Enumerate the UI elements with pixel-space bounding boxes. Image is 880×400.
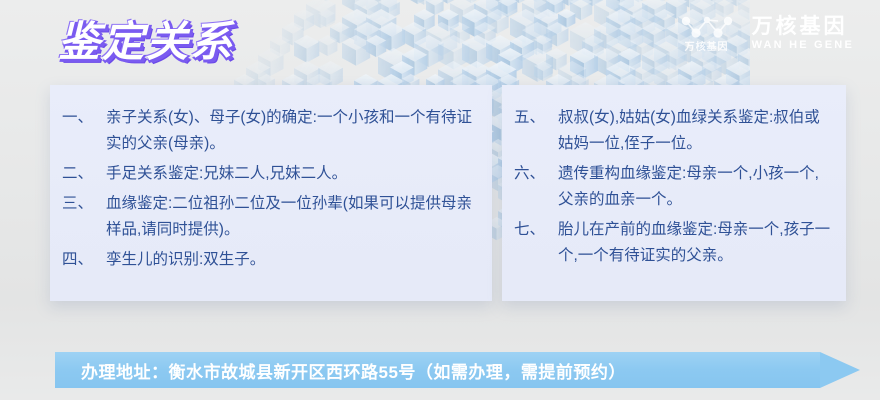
list-item-text: 血缘鉴定:二位祖孙二位及一位孙辈(如果可以提供母亲样品,请同时提供)。 [106, 191, 478, 243]
list-item: 三、 血缘鉴定:二位祖孙二位及一位孙辈(如果可以提供母亲样品,请同时提供)。 [62, 191, 478, 243]
list-item-number: 一、 [62, 105, 106, 131]
content-panels: 一、 亲子关系(女)、母子(女)的确定:一个小孩和一个有待证实的父亲(母亲)。 … [50, 85, 846, 301]
list-item-text: 叔叔(女),姑姑(女)血绿关系鉴定:叔伯或姑妈一位,侄子一位。 [558, 105, 832, 157]
list-item-number: 三、 [62, 191, 106, 217]
address-banner-text: 办理地址：衡水市故城县新开区西环路55号（如需办理，需提前预约） [55, 358, 626, 383]
list-item: 四、 孪生儿的识别:双生子。 [62, 247, 478, 273]
list-item-number: 七、 [514, 217, 558, 243]
list-item-text: 孪生儿的识别:双生子。 [106, 247, 478, 273]
list-item: 六、 遗传重构血缘鉴定:母亲一个,小孩一个,父亲的血亲一个。 [514, 161, 832, 213]
brand-mark: 万核基因 [678, 14, 736, 53]
banner-arrow-tip [820, 352, 860, 388]
poster-canvas: 鉴定关系 [0, 0, 880, 400]
list-item-text: 亲子关系(女)、母子(女)的确定:一个小孩和一个有待证实的父亲(母亲)。 [106, 105, 478, 157]
list-item-number: 二、 [62, 161, 106, 187]
page-title: 鉴定关系 [58, 8, 234, 69]
address-banner: 办理地址：衡水市故城县新开区西环路55号（如需办理，需提前预约） [55, 352, 860, 388]
panel-left: 一、 亲子关系(女)、母子(女)的确定:一个小孩和一个有待证实的父亲(母亲)。 … [50, 85, 492, 301]
brand-wordmark: 万核基因 WAN HE GENE [752, 16, 854, 51]
brand-name-cn: 万核基因 [752, 16, 854, 37]
list-item-text: 胎儿在产前的血缘鉴定:母亲一个,孩子一个,一个有待证实的父亲。 [558, 217, 832, 269]
poster-header: 鉴定关系 [0, 0, 880, 78]
brand-name-en: WAN HE GENE [752, 40, 854, 51]
list-item-number: 六、 [514, 161, 558, 187]
list-item-number: 五、 [514, 105, 558, 131]
address-banner-body: 办理地址：衡水市故城县新开区西环路55号（如需办理，需提前预约） [55, 352, 820, 388]
list-item-text: 遗传重构血缘鉴定:母亲一个,小孩一个,父亲的血亲一个。 [558, 161, 832, 213]
molecule-network-icon [678, 14, 736, 40]
brand-mark-label: 万核基因 [685, 43, 729, 53]
list-item: 二、 手足关系鉴定:兄妹二人,兄妹二人。 [62, 161, 478, 187]
list-item: 一、 亲子关系(女)、母子(女)的确定:一个小孩和一个有待证实的父亲(母亲)。 [62, 105, 478, 157]
list-item-number: 四、 [62, 247, 106, 273]
brand-logo: 万核基因 万核基因 WAN HE GENE [678, 14, 854, 53]
list-item-text: 手足关系鉴定:兄妹二人,兄妹二人。 [106, 161, 478, 187]
list-item: 五、 叔叔(女),姑姑(女)血绿关系鉴定:叔伯或姑妈一位,侄子一位。 [514, 105, 832, 157]
panel-right: 五、 叔叔(女),姑姑(女)血绿关系鉴定:叔伯或姑妈一位,侄子一位。 六、 遗传… [502, 85, 846, 301]
list-item: 七、 胎儿在产前的血缘鉴定:母亲一个,孩子一个,一个有待证实的父亲。 [514, 217, 832, 269]
